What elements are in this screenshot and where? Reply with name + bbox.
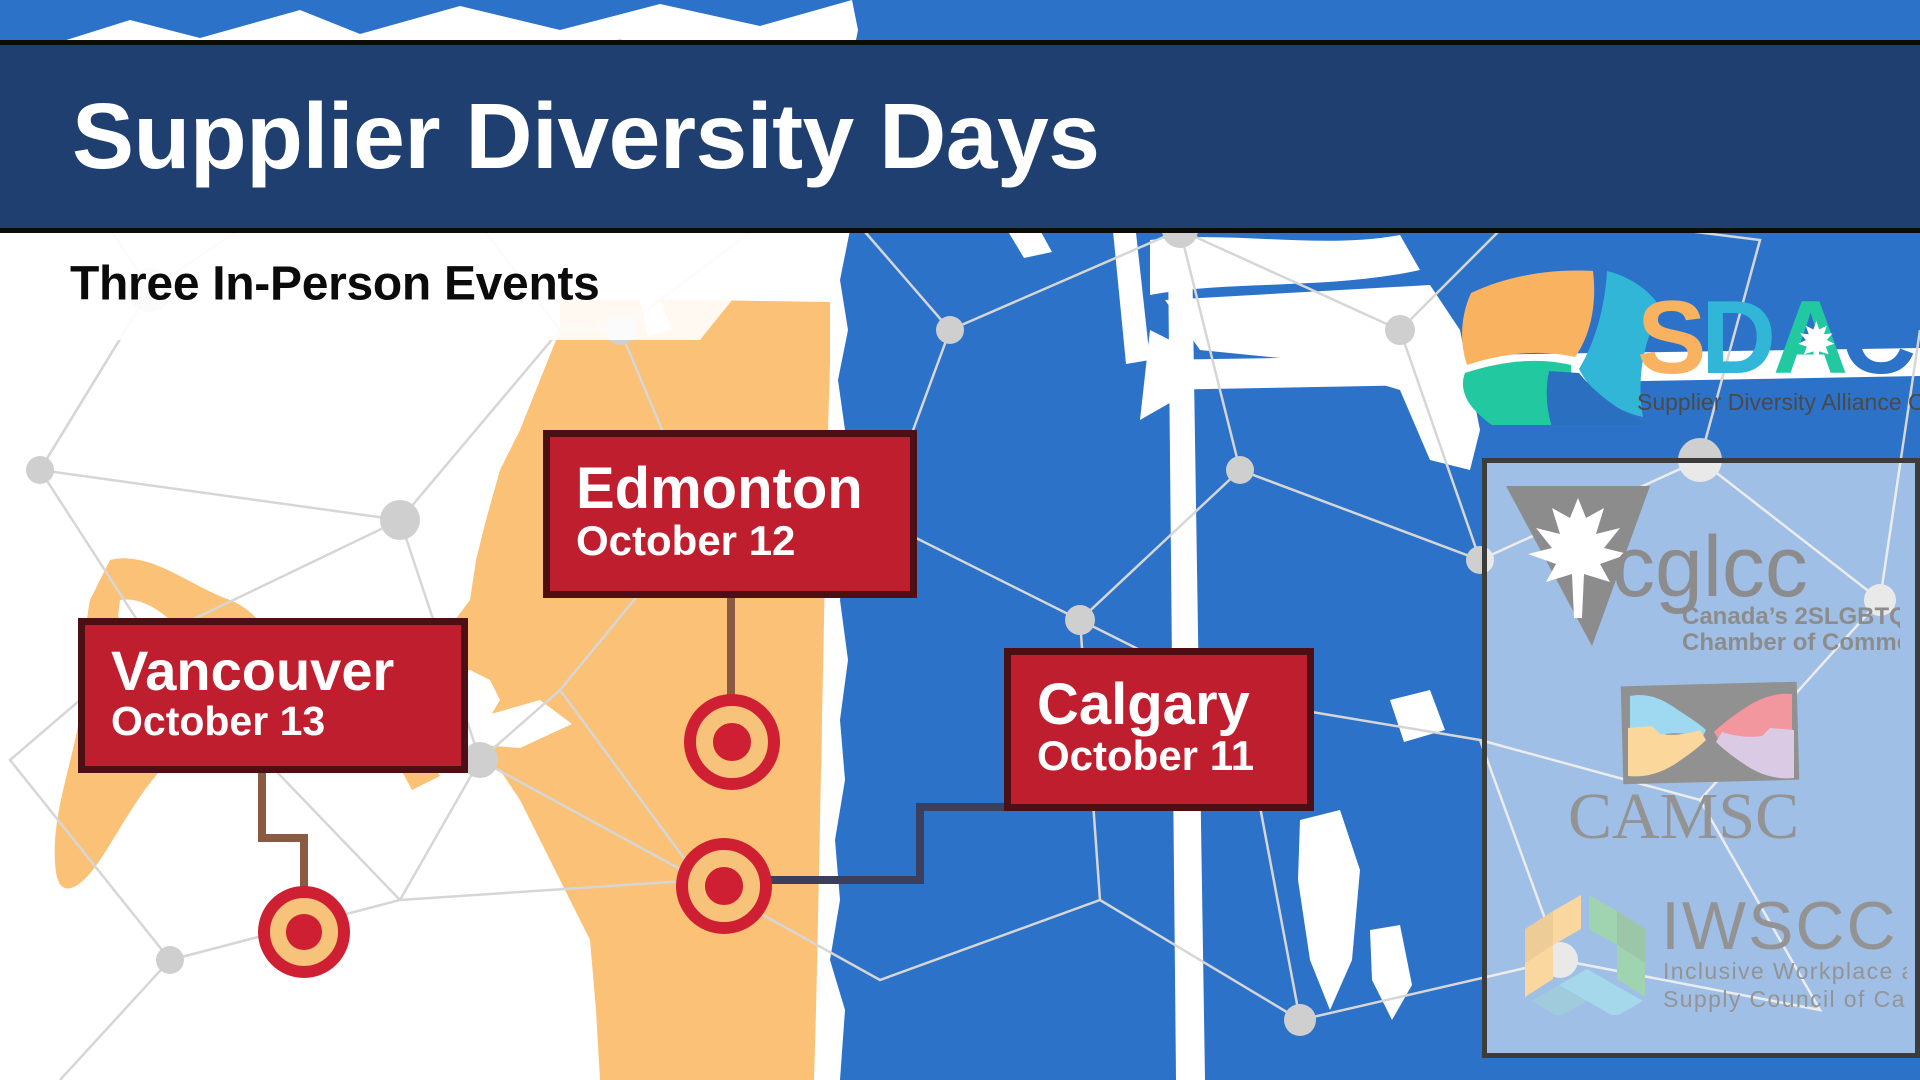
poster-canvas: Vancouver October 13 Edmonton October 12…: [0, 0, 1920, 1080]
event-card-edmonton[interactable]: Edmonton October 12: [543, 430, 917, 598]
event-date-edmonton: October 12: [576, 519, 884, 563]
event-date-vancouver: October 13: [111, 700, 435, 743]
map-pin-edmonton-dot: [713, 723, 750, 760]
logo-sdac[interactable]: S D A C Supplier Diversity Alliance Cana…: [1455, 245, 1920, 425]
map-pin-edmonton[interactable]: [684, 694, 780, 790]
connector-calgary-stub: [770, 876, 924, 884]
map-pin-vancouver[interactable]: [258, 886, 350, 978]
connector-calgary-vertical: [916, 803, 924, 883]
subtitle-text: Three In-Person Events: [70, 257, 600, 312]
event-city-vancouver: Vancouver: [111, 642, 435, 699]
connector-edmonton-vertical: [727, 596, 735, 700]
map-pin-calgary-dot: [705, 867, 742, 904]
sdac-letter-c: C: [1841, 280, 1916, 396]
sdac-tagline: Supplier Diversity Alliance Canada: [1637, 389, 1920, 415]
event-city-calgary: Calgary: [1037, 675, 1281, 734]
sdac-letter-d: D: [1701, 280, 1776, 396]
page-title: Supplier Diversity Days: [72, 90, 1099, 183]
map-pin-calgary[interactable]: [676, 838, 772, 934]
sdac-letter-s: S: [1637, 280, 1706, 396]
event-date-calgary: October 11: [1037, 734, 1281, 778]
map-pin-vancouver-dot: [286, 914, 321, 949]
sdac-pinwheel-mark: [1462, 271, 1661, 425]
event-card-calgary[interactable]: Calgary October 11: [1004, 648, 1314, 811]
subtitle-banner: Three In-Person Events: [0, 228, 790, 340]
partner-logo-panel: [1482, 458, 1920, 1058]
connector-vancouver-vertical: [258, 770, 266, 840]
connector-vancouver-drop: [300, 834, 308, 894]
event-card-vancouver[interactable]: Vancouver October 13: [78, 618, 468, 773]
event-city-edmonton: Edmonton: [576, 459, 884, 518]
connector-calgary-horizontal: [916, 803, 1008, 811]
title-bar: Supplier Diversity Days: [0, 40, 1920, 233]
